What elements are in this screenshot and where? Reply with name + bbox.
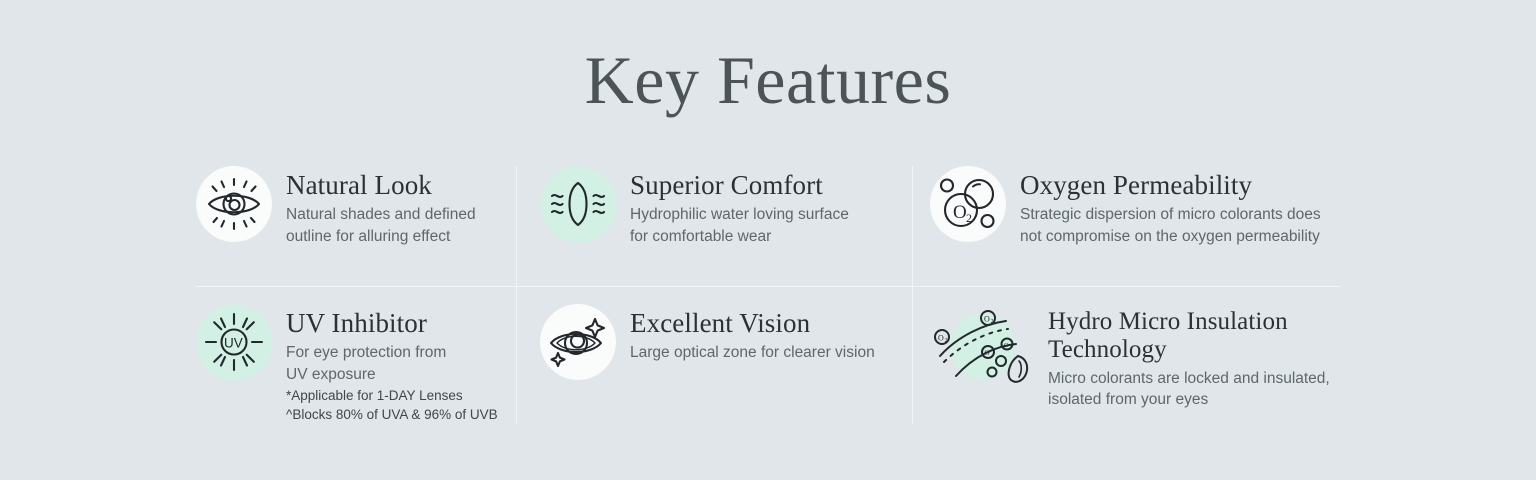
feature-title: UV Inhibitor bbox=[286, 308, 498, 338]
feature-description: For eye protection from UV exposure bbox=[286, 342, 498, 385]
svg-text:UV: UV bbox=[224, 336, 243, 351]
feature-text: Natural Look Natural shades and defined … bbox=[286, 166, 476, 247]
feature-title: Superior Comfort bbox=[630, 170, 849, 200]
feature-uv-inhibitor: UV UV Inhibitor For eye protection from … bbox=[196, 288, 516, 428]
feature-title: Hydro Micro Insulation Technology bbox=[1048, 308, 1330, 364]
feature-text: Superior Comfort Hydrophilic water lovin… bbox=[630, 166, 849, 247]
svg-text:O: O bbox=[985, 349, 990, 357]
svg-text:2: 2 bbox=[991, 319, 994, 325]
feature-text: UV Inhibitor For eye protection from UV … bbox=[286, 304, 498, 424]
feature-natural-look: Natural Look Natural shades and defined … bbox=[196, 160, 516, 288]
svg-text:2: 2 bbox=[966, 211, 972, 225]
feature-description: Natural shades and defined outline for a… bbox=[286, 204, 476, 247]
lens-water-waves-icon bbox=[540, 166, 616, 242]
features-grid: Natural Look Natural shades and defined … bbox=[196, 160, 1348, 428]
feature-description: Large optical zone for clearer vision bbox=[630, 342, 875, 363]
uv-sun-icon: UV bbox=[196, 304, 272, 380]
svg-text:O: O bbox=[953, 202, 967, 223]
feature-excellent-vision: Excellent Vision Large optical zone for … bbox=[516, 288, 912, 428]
key-features-section: Key Features bbox=[0, 0, 1536, 480]
feature-description: Strategic dispersion of micro colorants … bbox=[1020, 204, 1321, 247]
oxygen-bubbles-icon: O 2 bbox=[930, 166, 1006, 242]
feature-title: Excellent Vision bbox=[630, 308, 875, 338]
hydro-insulation-icon: O 2 O 2 O O bbox=[930, 304, 1034, 388]
feature-oxygen-permeability: O 2 Oxygen Permeability Strategic disper… bbox=[912, 160, 1348, 288]
feature-text: Excellent Vision Large optical zone for … bbox=[630, 304, 875, 364]
feature-footnote: *Applicable for 1-DAY Lenses ^Blocks 80%… bbox=[286, 386, 498, 424]
feature-description: Micro colorants are locked and insulated… bbox=[1048, 368, 1330, 411]
feature-text: Oxygen Permeability Strategic dispersion… bbox=[1020, 166, 1321, 247]
svg-text:O: O bbox=[938, 334, 944, 343]
feature-title: Natural Look bbox=[286, 170, 476, 200]
feature-superior-comfort: Superior Comfort Hydrophilic water lovin… bbox=[516, 160, 912, 288]
feature-title: Oxygen Permeability bbox=[1020, 170, 1321, 200]
eye-sparkle-icon bbox=[540, 304, 616, 380]
eye-rays-icon bbox=[196, 166, 272, 242]
page-title: Key Features bbox=[0, 46, 1536, 114]
svg-text:O: O bbox=[984, 315, 990, 324]
svg-text:O: O bbox=[1004, 342, 1009, 349]
feature-hydro-micro-insulation: O 2 O 2 O O bbox=[912, 288, 1348, 428]
svg-text:2: 2 bbox=[945, 338, 948, 344]
feature-text: Hydro Micro Insulation Technology Micro … bbox=[1048, 304, 1330, 411]
feature-description: Hydrophilic water loving surface for com… bbox=[630, 204, 849, 247]
